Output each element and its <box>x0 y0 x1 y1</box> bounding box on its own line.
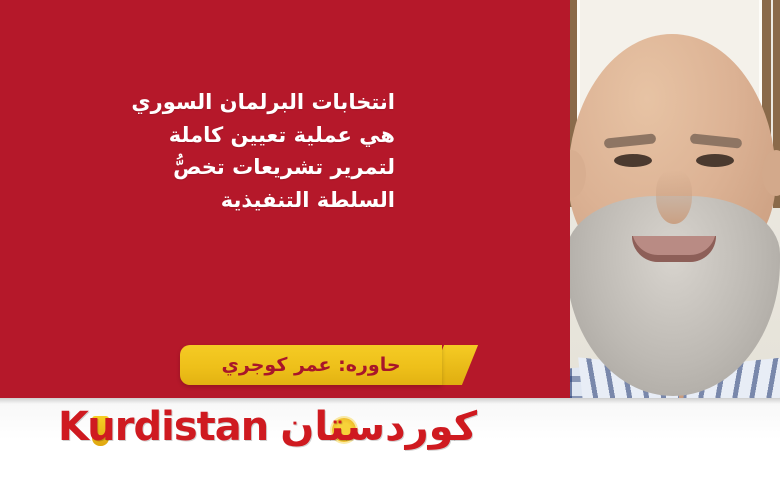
kurdistan-logo[interactable]: Kurdistan كوردستان <box>58 404 477 450</box>
headline-line-4: السلطة التنفيذية <box>95 184 395 217</box>
headline: انتخابات البرلمان السوري هي عملية تعيين … <box>95 86 395 216</box>
headline-line-1: انتخابات البرلمان السوري <box>95 86 395 119</box>
headline-line-2: هي عملية تعيين كاملة <box>95 119 395 152</box>
byline-label: حاوره: عمر كوجري <box>221 354 400 376</box>
red-background-wedge <box>380 0 570 398</box>
nose <box>656 170 692 224</box>
mouth <box>632 236 716 262</box>
logo-arabic-text: كوردستان <box>280 404 477 450</box>
news-card: انتخابات البرلمان السوري هي عملية تعيين … <box>0 0 780 490</box>
logo-latin-text: Kurdistan <box>58 404 268 450</box>
eye-right <box>696 154 734 167</box>
headline-line-3: لتمرير تشريعات تخصُّ <box>95 151 395 184</box>
eye-left <box>614 154 652 167</box>
byline-banner: حاوره: عمر كوجري <box>180 345 442 385</box>
logo-arabic-label: كوردستان <box>280 404 477 450</box>
logo-latin-label: Kurdistan <box>58 404 268 450</box>
